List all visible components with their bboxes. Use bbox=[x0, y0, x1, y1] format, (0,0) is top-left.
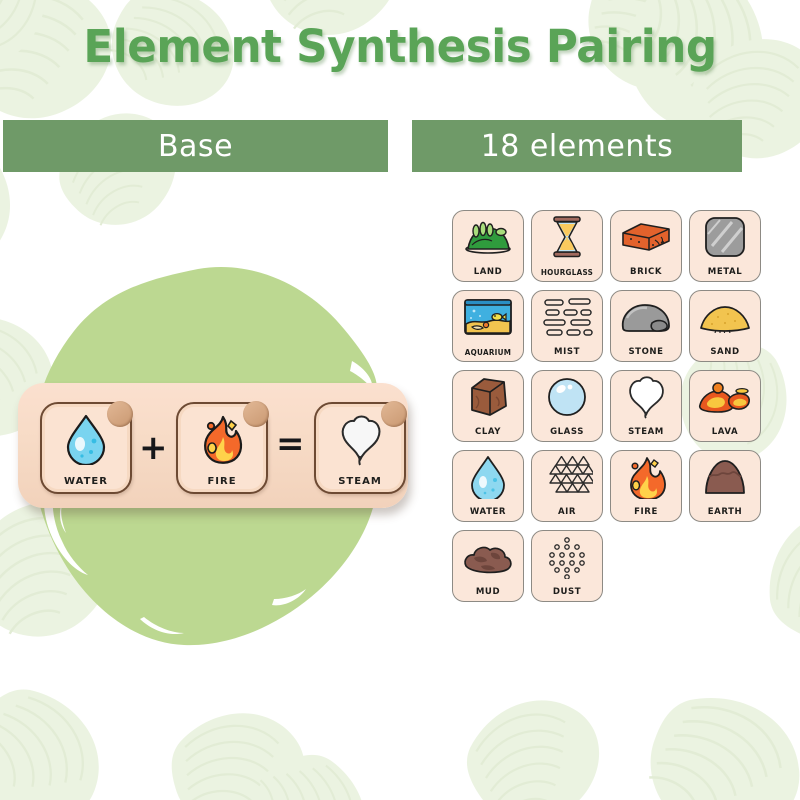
poster-canvas: Element Synthesis Pairing Base 18 elemen… bbox=[0, 0, 800, 800]
element-card-hourglass[interactable]: HOURGLASS bbox=[531, 210, 603, 282]
board-slot-water[interactable]: WATER bbox=[40, 402, 132, 494]
water-drop-icon bbox=[453, 455, 523, 499]
element-card-label: LAND bbox=[455, 267, 522, 277]
clay-block-icon bbox=[453, 375, 523, 419]
board-slot-steam[interactable]: STEAM bbox=[314, 402, 406, 494]
element-card-label: AIR bbox=[534, 507, 601, 517]
steam-cloud-icon bbox=[316, 410, 404, 468]
earth-mound-icon bbox=[690, 455, 760, 499]
page-title: Element Synthesis Pairing bbox=[12, 20, 788, 73]
element-card-steam[interactable]: STEAM bbox=[610, 370, 682, 442]
lava-icon bbox=[690, 375, 760, 419]
element-card-mist[interactable]: MIST bbox=[531, 290, 603, 362]
mud-icon bbox=[453, 535, 523, 579]
element-card-metal[interactable]: METAL bbox=[689, 210, 761, 282]
element-card-water[interactable]: WATER bbox=[452, 450, 524, 522]
banner-base: Base bbox=[3, 120, 388, 172]
element-card-mud[interactable]: MUD bbox=[452, 530, 524, 602]
steam-cloud-icon bbox=[611, 375, 681, 419]
water-drop-icon bbox=[42, 410, 130, 468]
element-card-aquarium[interactable]: AQUARIUM bbox=[452, 290, 524, 362]
banner-count-label: 18 elements bbox=[481, 129, 674, 164]
element-card-brick[interactable]: BRICK bbox=[610, 210, 682, 282]
board-slot-label: FIRE bbox=[178, 476, 266, 487]
element-card-stone[interactable]: STONE bbox=[610, 290, 682, 362]
element-card-dust[interactable]: DUST bbox=[531, 530, 603, 602]
element-card-sand[interactable]: SAND bbox=[689, 290, 761, 362]
element-card-label: WATER bbox=[455, 507, 522, 517]
brick-icon bbox=[611, 215, 681, 259]
element-card-label: DUST bbox=[534, 587, 601, 597]
element-card-land[interactable]: LAND bbox=[452, 210, 524, 282]
element-card-label: LAVA bbox=[692, 427, 759, 437]
element-card-glass[interactable]: GLASS bbox=[531, 370, 603, 442]
element-card-label: HOURGLASS bbox=[534, 268, 601, 277]
element-card-label: CLAY bbox=[455, 427, 522, 437]
stone-icon bbox=[611, 295, 681, 339]
element-card-label: FIRE bbox=[613, 507, 680, 517]
flame-icon bbox=[178, 410, 266, 468]
element-card-fire[interactable]: FIRE bbox=[610, 450, 682, 522]
element-card-label: BRICK bbox=[613, 267, 680, 277]
element-card-label: SAND bbox=[692, 347, 759, 357]
element-card-earth[interactable]: EARTH bbox=[689, 450, 761, 522]
element-card-label: GLASS bbox=[534, 427, 601, 437]
element-card-label: METAL bbox=[692, 267, 759, 277]
element-card-grid: LAND HOURGLASS bbox=[452, 210, 762, 602]
element-card-label: MIST bbox=[534, 347, 601, 357]
aquarium-icon bbox=[453, 295, 523, 339]
element-card-label: AQUARIUM bbox=[455, 348, 522, 357]
dust-dots-icon bbox=[532, 535, 602, 579]
hourglass-icon bbox=[532, 215, 602, 259]
wooden-base-board: WATER + FIRE = bbox=[18, 383, 408, 508]
element-card-label: MUD bbox=[455, 587, 522, 597]
element-card-label: EARTH bbox=[692, 507, 759, 517]
banner-element-count: 18 elements bbox=[412, 120, 742, 172]
sand-pile-icon bbox=[690, 295, 760, 339]
glass-sphere-icon bbox=[532, 375, 602, 419]
grass-hill-icon bbox=[453, 215, 523, 259]
board-slot-label: WATER bbox=[42, 476, 130, 487]
board-slot-fire[interactable]: FIRE bbox=[176, 402, 268, 494]
equals-operator-icon: = bbox=[276, 427, 305, 461]
element-card-air[interactable]: AIR bbox=[531, 450, 603, 522]
banner-base-label: Base bbox=[158, 129, 233, 164]
flame-icon bbox=[611, 455, 681, 499]
element-card-clay[interactable]: CLAY bbox=[452, 370, 524, 442]
plus-operator-icon: + bbox=[139, 431, 168, 465]
air-triangles-icon bbox=[532, 455, 602, 499]
element-card-label: STEAM bbox=[613, 427, 680, 437]
board-slot-label: STEAM bbox=[316, 476, 404, 487]
element-card-label: STONE bbox=[613, 347, 680, 357]
mist-dashes-icon bbox=[532, 295, 602, 339]
metal-plate-icon bbox=[690, 215, 760, 259]
element-card-lava[interactable]: LAVA bbox=[689, 370, 761, 442]
